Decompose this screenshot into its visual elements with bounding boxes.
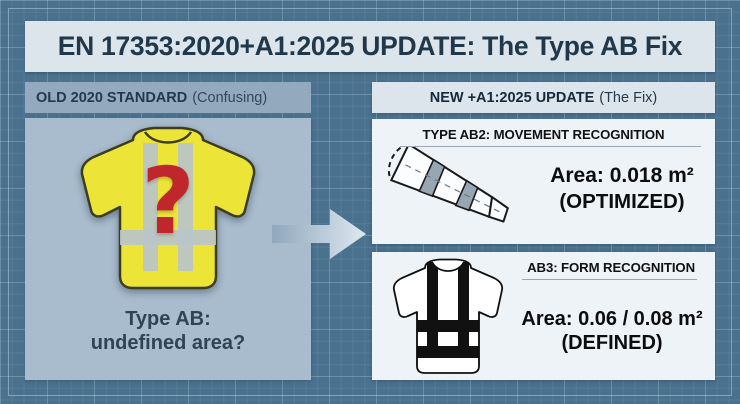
card-ab3-status: (DEFINED) [512, 331, 712, 355]
card-ab3-title: AB3: FORM RECOGNITION [527, 260, 695, 275]
hiviz-shirt-figure: ? [53, 124, 283, 299]
infographic-canvas: EN 17353:2020+A1:2025 UPDATE: The Type A… [0, 0, 740, 404]
card-ab2-area-block: Area: 0.018 m² (OPTIMIZED) [532, 163, 712, 214]
vest-diagram-icon [380, 258, 508, 381]
page-title: EN 17353:2020+A1:2025 UPDATE: The Type A… [58, 31, 682, 62]
card-ab3-area-block: Area: 0.06 / 0.08 m² (DEFINED) [512, 307, 712, 356]
card-ab2-title: TYPE AB2: MOVEMENT RECOGNITION [423, 127, 665, 142]
new-update-header-soft: (The Fix) [599, 90, 657, 106]
old-standard-header-soft: (Confusing) [192, 90, 267, 106]
card-ab2-status: (OPTIMIZED) [532, 189, 712, 214]
old-standard-caption: Type AB: undefined area? [91, 307, 245, 356]
card-ab3-divider [522, 279, 697, 280]
card-type-ab3: AB3: FORM RECOGNITION [372, 252, 715, 380]
card-ab2-area-value: Area: 0.018 m² [532, 163, 712, 189]
card-type-ab2: TYPE AB2: MOVEMENT RECOGNITION [372, 119, 715, 244]
new-update-header: NEW +A1:2025 UPDATE (The Fix) [372, 82, 715, 113]
new-update-header-strong: NEW +A1:2025 UPDATE [430, 90, 595, 106]
sleeve-diagram-icon [378, 147, 530, 244]
card-ab3-area-value: Area: 0.06 / 0.08 m² [512, 307, 712, 331]
old-standard-panel: ? Type AB: undefined area? [25, 118, 311, 380]
transition-arrow-icon [272, 205, 368, 268]
question-mark-symbol: ? [53, 156, 283, 248]
caption-line-2: undefined area? [91, 331, 245, 355]
old-standard-header-strong: OLD 2020 STANDARD [36, 90, 187, 106]
old-standard-header: OLD 2020 STANDARD (Confusing) [25, 82, 311, 113]
page-title-bar: EN 17353:2020+A1:2025 UPDATE: The Type A… [25, 21, 715, 72]
caption-line-1: Type AB: [91, 307, 245, 331]
